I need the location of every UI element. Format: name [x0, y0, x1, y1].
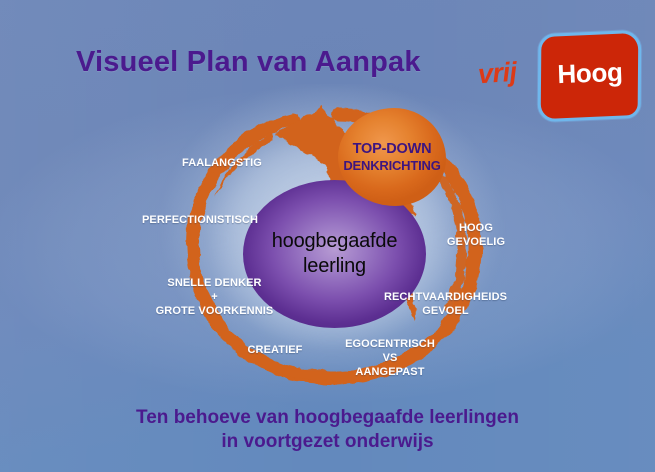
footer-caption: Ten behoeve van hoogbegaafde leerlingen …	[0, 406, 655, 455]
trait-rechtvaardigheids: RECHTVAARDIGHEIDS GEVOEL	[378, 291, 513, 319]
core-label-line2: leerling	[303, 254, 366, 279]
trait-snelle-denker: SNELLE DENKER + GROTE VOORKENNIS	[152, 277, 277, 318]
top-down-line2: DENKRICHTING	[343, 158, 440, 173]
slide-canvas: Visueel Plan van Aanpak vrij Hoog	[0, 0, 655, 472]
page-title: Visueel Plan van Aanpak	[76, 46, 421, 79]
trait-hoog-gevoelig: HOOG GEVOELIG	[446, 222, 506, 250]
top-down-line1: TOP-DOWN	[353, 141, 432, 158]
trait-egocentrisch: EGOCENTRISCH VS AANGEPAST	[335, 338, 445, 379]
trait-faalangstig: FAALANGSTIG	[182, 157, 272, 171]
top-down-label: TOP-DOWN DENKRICHTING	[338, 108, 446, 206]
logo-word-hoog: Hoog	[549, 57, 630, 91]
trait-perfectionistisch: PERFECTIONISTISCH	[142, 214, 267, 228]
core-label-line1: hoogbegaafde	[272, 229, 398, 254]
trait-creatief: CREATIEF	[240, 344, 310, 358]
